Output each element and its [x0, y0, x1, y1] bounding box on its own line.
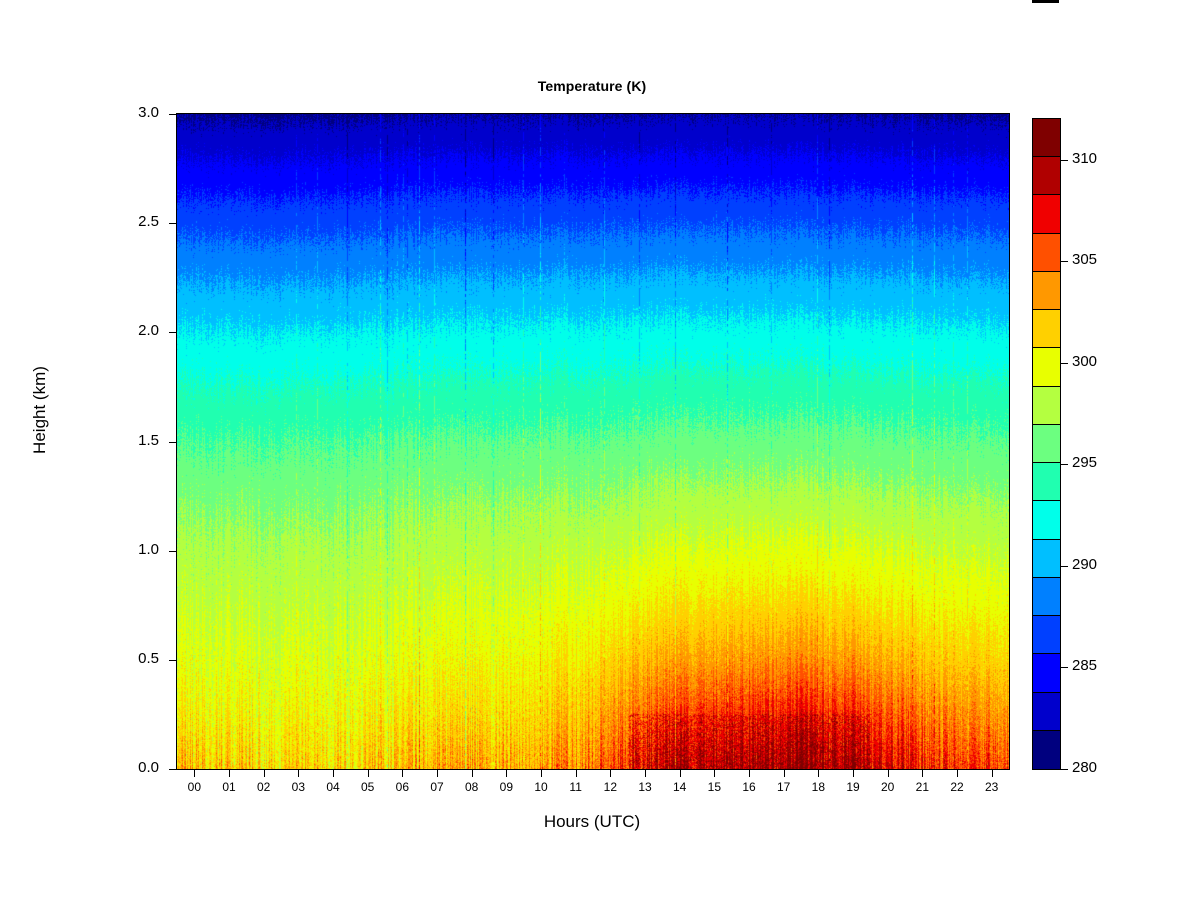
x-tick-mark: [437, 770, 438, 777]
colorbar-tick-label: 295: [1072, 454, 1132, 471]
colorbar-band: [1033, 119, 1060, 157]
y-tick-mark: [169, 114, 176, 115]
colorbar-band: [1033, 310, 1060, 348]
x-tick-mark: [714, 770, 715, 777]
heatmap-plot-panel[interactable]: [176, 113, 1010, 770]
colorbar-tick-mark: [1061, 363, 1068, 364]
x-tick-mark: [264, 770, 265, 777]
colorbar-band: [1033, 654, 1060, 692]
colorbar-tick-mark: [1061, 261, 1068, 262]
colorbar-tick-label: 300: [1072, 353, 1132, 370]
y-tick-label: 3.0: [109, 104, 159, 121]
figure-canvas: Temperature (K) 000102030405060708091011…: [0, 0, 1200, 900]
y-tick-mark: [169, 332, 176, 333]
x-tick-label: 23: [972, 780, 1012, 794]
y-axis-title: Height (km): [30, 310, 50, 510]
colorbar-band: [1033, 387, 1060, 425]
colorbar-tick-mark: [1061, 464, 1068, 465]
colorbar-band: [1033, 463, 1060, 501]
y-tick-mark: [169, 769, 176, 770]
x-tick-mark: [749, 770, 750, 777]
colorbar-band: [1033, 272, 1060, 310]
y-tick-label: 1.0: [109, 541, 159, 558]
x-tick-mark: [506, 770, 507, 777]
colorbar[interactable]: [1032, 118, 1061, 770]
colorbar-band: [1033, 616, 1060, 654]
plot-title: Temperature (K): [0, 78, 1192, 94]
x-tick-mark: [957, 770, 958, 777]
x-tick-mark: [645, 770, 646, 777]
x-tick-mark: [888, 770, 889, 777]
colorbar-tick-mark: [1061, 667, 1068, 668]
colorbar-band: [1033, 731, 1060, 769]
colorbar-tick-label: 310: [1072, 150, 1132, 167]
y-tick-label: 2.5: [109, 213, 159, 230]
colorbar-band: [1033, 578, 1060, 616]
y-tick-label: 0.5: [109, 650, 159, 667]
colorbar-band: [1033, 348, 1060, 386]
colorbar-tick-mark: [1061, 566, 1068, 567]
x-tick-mark: [853, 770, 854, 777]
x-tick-mark: [922, 770, 923, 777]
x-tick-mark: [541, 770, 542, 777]
x-tick-mark: [402, 770, 403, 777]
colorbar-tick-mark: [1061, 160, 1068, 161]
temperature-field-heatmap[interactable]: [177, 114, 1009, 769]
x-tick-mark: [472, 770, 473, 777]
y-tick-mark: [169, 442, 176, 443]
x-tick-mark: [368, 770, 369, 777]
x-tick-mark: [298, 770, 299, 777]
colorbar-band: [1033, 234, 1060, 272]
colorbar-band: [1033, 157, 1060, 195]
x-tick-mark: [576, 770, 577, 777]
y-tick-mark: [169, 660, 176, 661]
y-tick-mark: [169, 223, 176, 224]
x-tick-mark: [784, 770, 785, 777]
colorbar-tick-mark: [1061, 769, 1068, 770]
x-tick-mark: [194, 770, 195, 777]
colorbar-band: [1033, 195, 1060, 233]
colorbar-band: [1033, 693, 1060, 731]
colorbar-tick-label: 290: [1072, 556, 1132, 573]
colorbar-tick-label: 305: [1072, 251, 1132, 268]
top-edge-artifact: [1032, 0, 1059, 3]
y-tick-label: 2.0: [109, 322, 159, 339]
colorbar-band: [1033, 425, 1060, 463]
x-tick-mark: [818, 770, 819, 777]
y-tick-label: 1.5: [109, 432, 159, 449]
x-tick-mark: [610, 770, 611, 777]
x-tick-mark: [333, 770, 334, 777]
y-tick-mark: [169, 551, 176, 552]
x-tick-mark: [229, 770, 230, 777]
x-axis-title: Hours (UTC): [176, 812, 1008, 832]
y-tick-label: 0.0: [109, 759, 159, 776]
colorbar-tick-label: 285: [1072, 657, 1132, 674]
colorbar-tick-label: 280: [1072, 759, 1132, 776]
colorbar-band: [1033, 540, 1060, 578]
colorbar-band: [1033, 501, 1060, 539]
x-tick-mark: [992, 770, 993, 777]
x-tick-mark: [680, 770, 681, 777]
